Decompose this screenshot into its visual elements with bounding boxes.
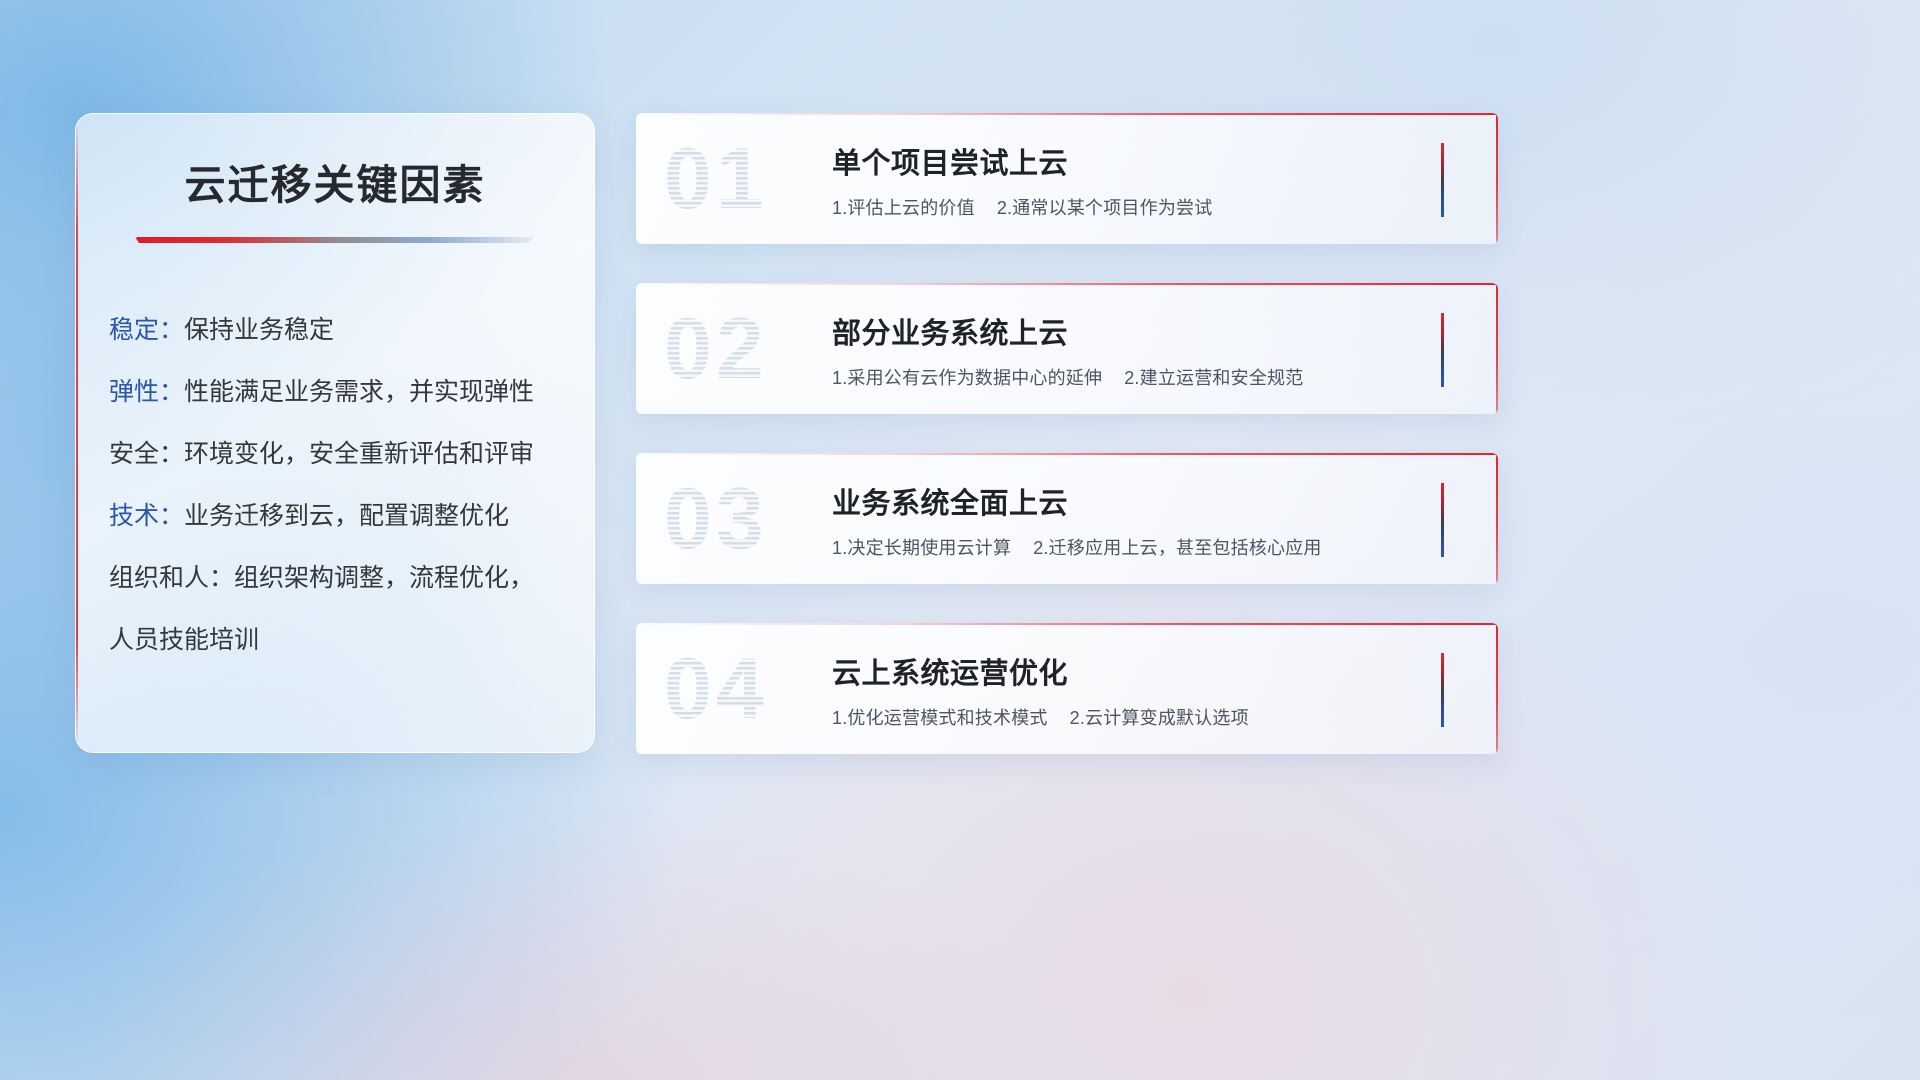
stage-number: 02 — [664, 297, 849, 401]
stage-number: 03 — [664, 467, 849, 571]
factor-label: 弹性： — [109, 378, 184, 406]
factor-text: 性能满足业务需求，并实现弹性 — [184, 378, 534, 406]
factor-row: 安全：环境变化，安全重新评估和评审 — [109, 423, 568, 485]
card-description-item-1: 1.决定长期使用云计算 — [832, 538, 1011, 558]
factor-row: 稳定：保持业务稳定 — [109, 299, 568, 361]
card-body: 单个项目尝试上云1.评估上云的价值2.通常以某个项目作为尝试 — [832, 140, 1472, 220]
factor-row: 组织和人：组织架构调整，流程优化， — [109, 547, 568, 609]
stage-card[interactable]: 03业务系统全面上云1.决定长期使用云计算2.迁移应用上云，甚至包括核心应用 — [636, 453, 1498, 584]
card-description-item-1: 1.评估上云的价值 — [832, 198, 975, 218]
stage-card[interactable]: 04云上系统运营优化1.优化运营模式和技术模式2.云计算变成默认选项 — [636, 623, 1498, 754]
page-title: 云迁移关键因素 — [76, 151, 594, 211]
factor-row: 弹性：性能满足业务需求，并实现弹性 — [109, 361, 568, 423]
title-underline-rule — [135, 237, 535, 243]
factor-label: 安全： — [109, 440, 184, 468]
key-factors-panel: 云迁移关键因素 稳定：保持业务稳定弹性：性能满足业务需求，并实现弹性安全：环境变… — [75, 113, 595, 753]
card-description-item-2: 2.迁移应用上云，甚至包括核心应用 — [1033, 538, 1321, 558]
stage-card-list: 01单个项目尝试上云1.评估上云的价值2.通常以某个项目作为尝试02部分业务系统… — [636, 113, 1498, 793]
stage-card[interactable]: 02部分业务系统上云1.采用公有云作为数据中心的延伸2.建立运营和安全规范 — [636, 283, 1498, 414]
stage-number: 04 — [664, 637, 849, 741]
stage-number: 01 — [664, 127, 849, 231]
factor-text: 组织架构调整，流程优化， — [234, 564, 534, 592]
card-description: 1.决定长期使用云计算2.迁移应用上云，甚至包括核心应用 — [832, 534, 1472, 560]
card-description: 1.采用公有云作为数据中心的延伸2.建立运营和安全规范 — [832, 364, 1472, 390]
card-description-item-1: 1.优化运营模式和技术模式 — [832, 708, 1048, 728]
card-description-item-2: 2.建立运营和安全规范 — [1124, 368, 1303, 388]
card-title: 部分业务系统上云 — [832, 310, 1472, 352]
factor-label: 技术： — [109, 502, 184, 530]
factor-row: 技术：业务迁移到云，配置调整优化 — [109, 485, 568, 547]
card-title: 单个项目尝试上云 — [832, 140, 1472, 182]
card-description: 1.优化运营模式和技术模式2.云计算变成默认选项 — [832, 704, 1472, 730]
card-body: 业务系统全面上云1.决定长期使用云计算2.迁移应用上云，甚至包括核心应用 — [832, 480, 1472, 560]
card-description-item-2: 2.通常以某个项目作为尝试 — [997, 198, 1213, 218]
card-body: 云上系统运营优化1.优化运营模式和技术模式2.云计算变成默认选项 — [832, 650, 1472, 730]
factor-text: 人员技能培训 — [109, 626, 259, 654]
factor-row: 人员技能培训 — [109, 609, 568, 671]
card-description-item-2: 2.云计算变成默认选项 — [1070, 708, 1249, 728]
factor-list: 稳定：保持业务稳定弹性：性能满足业务需求，并实现弹性安全：环境变化，安全重新评估… — [76, 299, 594, 671]
factor-label: 组织和人： — [109, 564, 234, 592]
factor-text: 环境变化，安全重新评估和评审 — [184, 440, 534, 468]
card-description-item-1: 1.采用公有云作为数据中心的延伸 — [832, 368, 1102, 388]
card-title: 业务系统全面上云 — [832, 480, 1472, 522]
slide-stage: 云迁移关键因素 稳定：保持业务稳定弹性：性能满足业务需求，并实现弹性安全：环境变… — [0, 0, 1920, 1080]
card-description: 1.评估上云的价值2.通常以某个项目作为尝试 — [832, 194, 1472, 220]
card-title: 云上系统运营优化 — [832, 650, 1472, 692]
stage-card[interactable]: 01单个项目尝试上云1.评估上云的价值2.通常以某个项目作为尝试 — [636, 113, 1498, 244]
factor-label: 稳定： — [109, 316, 184, 344]
factor-text: 业务迁移到云，配置调整优化 — [184, 502, 509, 530]
card-body: 部分业务系统上云1.采用公有云作为数据中心的延伸2.建立运营和安全规范 — [832, 310, 1472, 390]
factor-text: 保持业务稳定 — [184, 316, 334, 344]
